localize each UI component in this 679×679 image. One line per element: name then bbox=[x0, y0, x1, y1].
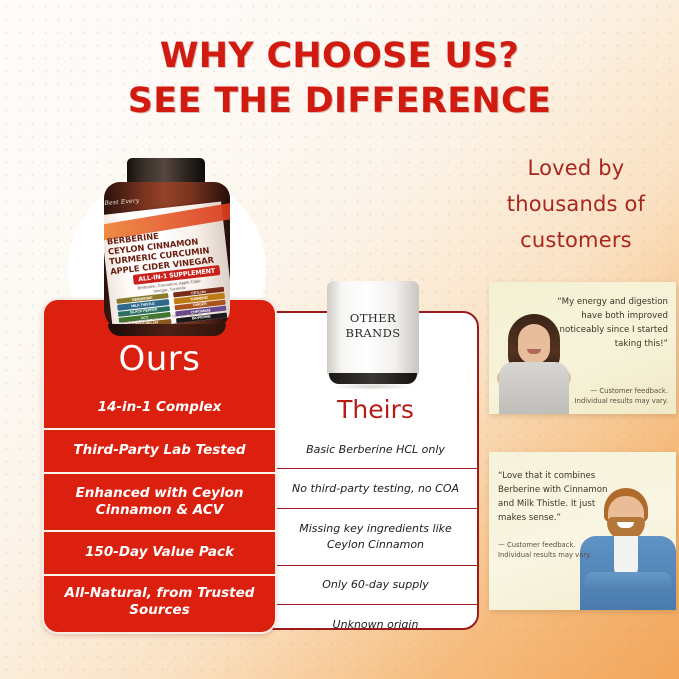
testimonial-attribution: — Customer feedback. Individual results … bbox=[498, 540, 608, 560]
testimonial-quote: “My energy and digestion have both impro… bbox=[552, 296, 668, 352]
product-bottle-image: Best Every BERBERINE CEYLON CINNAMON TUR… bbox=[101, 158, 233, 336]
theirs-feature-row: Unknown origin bbox=[274, 605, 477, 630]
loved-by-line-3: customers bbox=[480, 222, 672, 258]
loved-by-heading: Loved by thousands of customers bbox=[480, 150, 672, 258]
avatar-arms bbox=[584, 572, 672, 591]
theirs-feature-row: Basic Berberine HCL only bbox=[274, 431, 477, 469]
other-brands-bottle-image: OTHER BRANDS bbox=[327, 281, 419, 391]
theirs-feature-row: No third-party testing, no COA bbox=[274, 469, 477, 509]
ours-feature-row: All-Natural, from Trusted Sources bbox=[44, 576, 275, 628]
loved-by-line-1: Loved by bbox=[480, 150, 672, 186]
bottle-label: Best Every BERBERINE CEYLON CINNAMON TUR… bbox=[104, 201, 230, 330]
page-title: WHY CHOOSE US? SEE THE DIFFERENCE bbox=[0, 34, 679, 124]
avatar-face bbox=[518, 324, 550, 364]
loved-by-line-2: thousands of bbox=[480, 186, 672, 222]
bottle-cap bbox=[127, 158, 205, 184]
other-bottle-label: OTHER BRANDS bbox=[327, 311, 419, 341]
ours-feature-row: 150-Day Value Pack bbox=[44, 532, 275, 576]
ours-feature-row: 14-in-1 Complex bbox=[44, 388, 275, 430]
heading-line-1: WHY CHOOSE US? bbox=[0, 34, 679, 79]
theirs-row-list: Basic Berberine HCL onlyNo third-party t… bbox=[274, 431, 477, 630]
theirs-feature-row: Missing key ingredients like Ceylon Cinn… bbox=[274, 509, 477, 566]
bottle-base bbox=[108, 324, 226, 336]
infographic-canvas: WHY CHOOSE US? SEE THE DIFFERENCE Best E… bbox=[0, 0, 679, 679]
heading-line-2: SEE THE DIFFERENCE bbox=[0, 79, 679, 124]
other-bottle-label-line-2: BRANDS bbox=[327, 326, 419, 341]
other-bottle-shadow bbox=[333, 383, 413, 390]
ours-row-list: 14-in-1 ComplexThird-Party Lab TestedEnh… bbox=[44, 388, 275, 628]
testimonial-card: “Love that it combines Berberine with Ci… bbox=[489, 452, 676, 610]
ours-title: Ours bbox=[44, 342, 275, 376]
testimonial-card: “My energy and digestion have both impro… bbox=[489, 282, 676, 414]
ours-panel: Ours 14-in-1 ComplexThird-Party Lab Test… bbox=[42, 298, 277, 634]
other-bottle-label-line-1: OTHER bbox=[327, 311, 419, 326]
theirs-feature-row: Only 60-day supply bbox=[274, 566, 477, 605]
testimonial-quote: “Love that it combines Berberine with Ci… bbox=[498, 470, 616, 526]
ours-feature-row: Enhanced with Ceylon Cinnamon & ACV bbox=[44, 474, 275, 532]
bottle-body: Best Every BERBERINE CEYLON CINNAMON TUR… bbox=[104, 182, 230, 334]
testimonial-attribution: — Customer feedback. Individual results … bbox=[558, 386, 668, 406]
theirs-title: Theirs bbox=[274, 397, 477, 422]
brand-logo: Best Every bbox=[104, 197, 139, 207]
avatar-undershirt bbox=[614, 536, 638, 576]
ours-feature-row: Third-Party Lab Tested bbox=[44, 430, 275, 474]
